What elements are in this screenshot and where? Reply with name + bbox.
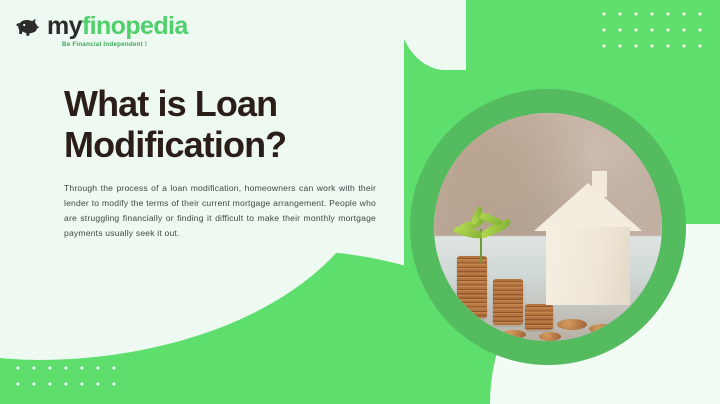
slide-canvas: myfinopedia Be Financial Independent ! W… <box>0 0 720 404</box>
brand-logo-row: myfinopedia <box>16 14 206 39</box>
dot-grid-top-right <box>594 4 714 60</box>
loose-coin <box>557 319 587 330</box>
brand-wordmark: myfinopedia <box>47 14 188 39</box>
brand-tagline: Be Financial Independent ! <box>62 41 206 48</box>
plant-sprout <box>452 201 514 263</box>
coin-stack-short <box>525 304 553 330</box>
piggy-bank-icon <box>16 16 42 38</box>
circular-photo-frame <box>410 89 686 365</box>
brand-wordmark-accent: finopedia <box>82 12 188 40</box>
copy-block: What is Loan Modification? Through the p… <box>64 84 376 240</box>
loose-coin <box>502 330 526 339</box>
brand-wordmark-primary: my <box>47 12 82 40</box>
brand-logo[interactable]: myfinopedia Be Financial Independent ! <box>16 14 206 48</box>
coin-stack-medium <box>493 279 523 325</box>
loose-coin <box>539 332 561 341</box>
house-model <box>534 173 638 305</box>
body-paragraph: Through the process of a loan modificati… <box>64 181 376 240</box>
dot-grid-bottom-left <box>8 342 128 398</box>
page-title: What is Loan Modification? <box>64 84 376 165</box>
coin-stack-tall <box>457 256 487 318</box>
house-body <box>546 227 630 305</box>
photo-image <box>434 113 662 341</box>
house-roof <box>534 183 642 231</box>
